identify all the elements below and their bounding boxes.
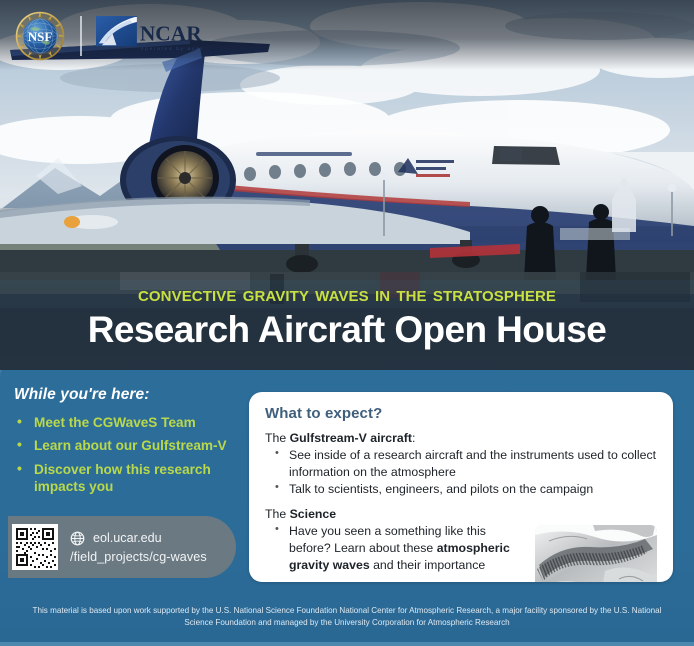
logo-bar: NSF NCAR operated by ucar <box>14 10 208 62</box>
left-column: While you're here: Meet the CGWaveS Team… <box>14 386 240 502</box>
ncar-logo: NCAR operated by ucar <box>96 15 208 57</box>
science-bullets: Have you seen a something like this befo… <box>265 523 523 573</box>
url-path: /field_projects/cg-waves <box>70 550 207 564</box>
list-item: See inside of a research aircraft and th… <box>265 447 657 480</box>
what-to-expect-card: What to expect? The Gulfstream-V aircraf… <box>249 392 673 582</box>
card-title: What to expect? <box>265 405 657 422</box>
while-here-list: Meet the CGWaveS Team Learn about our Gu… <box>14 414 240 496</box>
poster-headline: Research Aircraft Open House <box>0 309 694 351</box>
lead-bold: Science <box>290 507 337 521</box>
ncar-tagline: operated by ucar <box>141 46 204 52</box>
qr-url-text: eol.ucar.edu /field_projects/cg-waves <box>70 531 207 564</box>
aircraft-bullets: See inside of a research aircraft and th… <box>265 447 657 498</box>
lead-prefix: The <box>265 507 290 521</box>
section-lead-aircraft: The Gulfstream-V aircraft: <box>265 431 657 445</box>
logo-divider <box>80 16 82 56</box>
list-item: Meet the CGWaveS Team <box>14 414 240 431</box>
nsf-logo: NSF <box>14 10 66 62</box>
while-here-heading: While you're here: <box>14 386 240 404</box>
nsf-logo-text: NSF <box>28 29 53 44</box>
title-band: Convective Gravity Waves in the Stratosp… <box>0 272 694 370</box>
bullet-part: and their importance <box>370 558 486 572</box>
url-domain: eol.ucar.edu <box>93 531 162 545</box>
ncar-logo-text: NCAR <box>140 21 202 45</box>
globe-icon <box>70 531 85 546</box>
list-item: Learn about our Gulfstream-V <box>14 437 240 454</box>
qr-url-block[interactable]: eol.ucar.edu /field_projects/cg-waves <box>8 516 236 578</box>
poster-root: NSF NCAR operated by ucar <box>0 0 694 646</box>
funding-disclaimer: This material is based upon work support… <box>0 605 694 628</box>
lead-prefix: The <box>265 431 290 445</box>
list-item: Have you seen a something like this befo… <box>265 523 523 573</box>
poster-kicker: Convective Gravity Waves in the Stratosp… <box>0 281 694 307</box>
section-lead-science: The Science <box>265 507 657 521</box>
qr-code[interactable] <box>12 524 58 570</box>
list-item: Discover how this research impacts you <box>14 461 240 496</box>
lead-suffix: : <box>412 431 415 445</box>
lead-bold: Gulfstream-V aircraft <box>290 431 412 445</box>
gravity-waves-image <box>535 525 657 582</box>
list-item: Talk to scientists, engineers, and pilot… <box>265 481 657 498</box>
